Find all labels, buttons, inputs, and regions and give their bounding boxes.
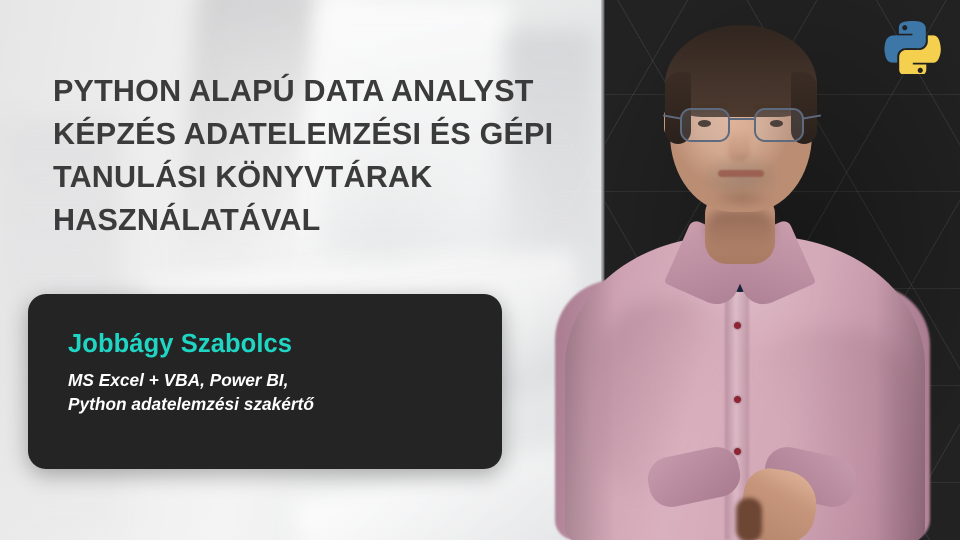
eyeglass-lens-right <box>754 108 804 142</box>
title-line-4: HASZNÁLATÁVAL <box>53 199 583 242</box>
shirt-button <box>734 448 741 455</box>
presenter-name-card: Jobbágy Szabolcs MS Excel + VBA, Power B… <box>28 294 502 469</box>
presenter-role: MS Excel + VBA, Power BI, Python adatele… <box>68 368 314 416</box>
eyeglasses-icon <box>680 108 804 144</box>
chin-shadow <box>700 186 784 212</box>
slide-canvas: PYTHON ALAPÚ DATA ANALYST KÉPZÉS ADATELE… <box>0 0 960 540</box>
presenter-role-line-2: Python adatelemzési szakértő <box>68 392 314 416</box>
shirt-button <box>734 396 741 403</box>
title-line-1: PYTHON ALAPÚ DATA ANALYST <box>53 70 583 113</box>
eyeglass-bridge <box>730 118 754 120</box>
presenter-name: Jobbágy Szabolcs <box>68 330 292 359</box>
hands-clasp-shadow <box>736 498 762 540</box>
neck-shadow <box>705 210 775 252</box>
presenter-role-line-1: MS Excel + VBA, Power BI, <box>68 368 314 392</box>
page-title: PYTHON ALAPÚ DATA ANALYST KÉPZÉS ADATELE… <box>53 70 583 242</box>
title-line-2: KÉPZÉS ADATELEMZÉSI ÉS GÉPI <box>53 113 583 156</box>
mouth <box>718 170 764 177</box>
eyeglass-lens-left <box>680 108 730 142</box>
python-logo-icon <box>884 19 941 74</box>
presenter-photo <box>520 0 960 540</box>
shirt-button <box>734 322 741 329</box>
title-line-3: TANULÁSI KÖNYVTÁRAK <box>53 156 583 199</box>
